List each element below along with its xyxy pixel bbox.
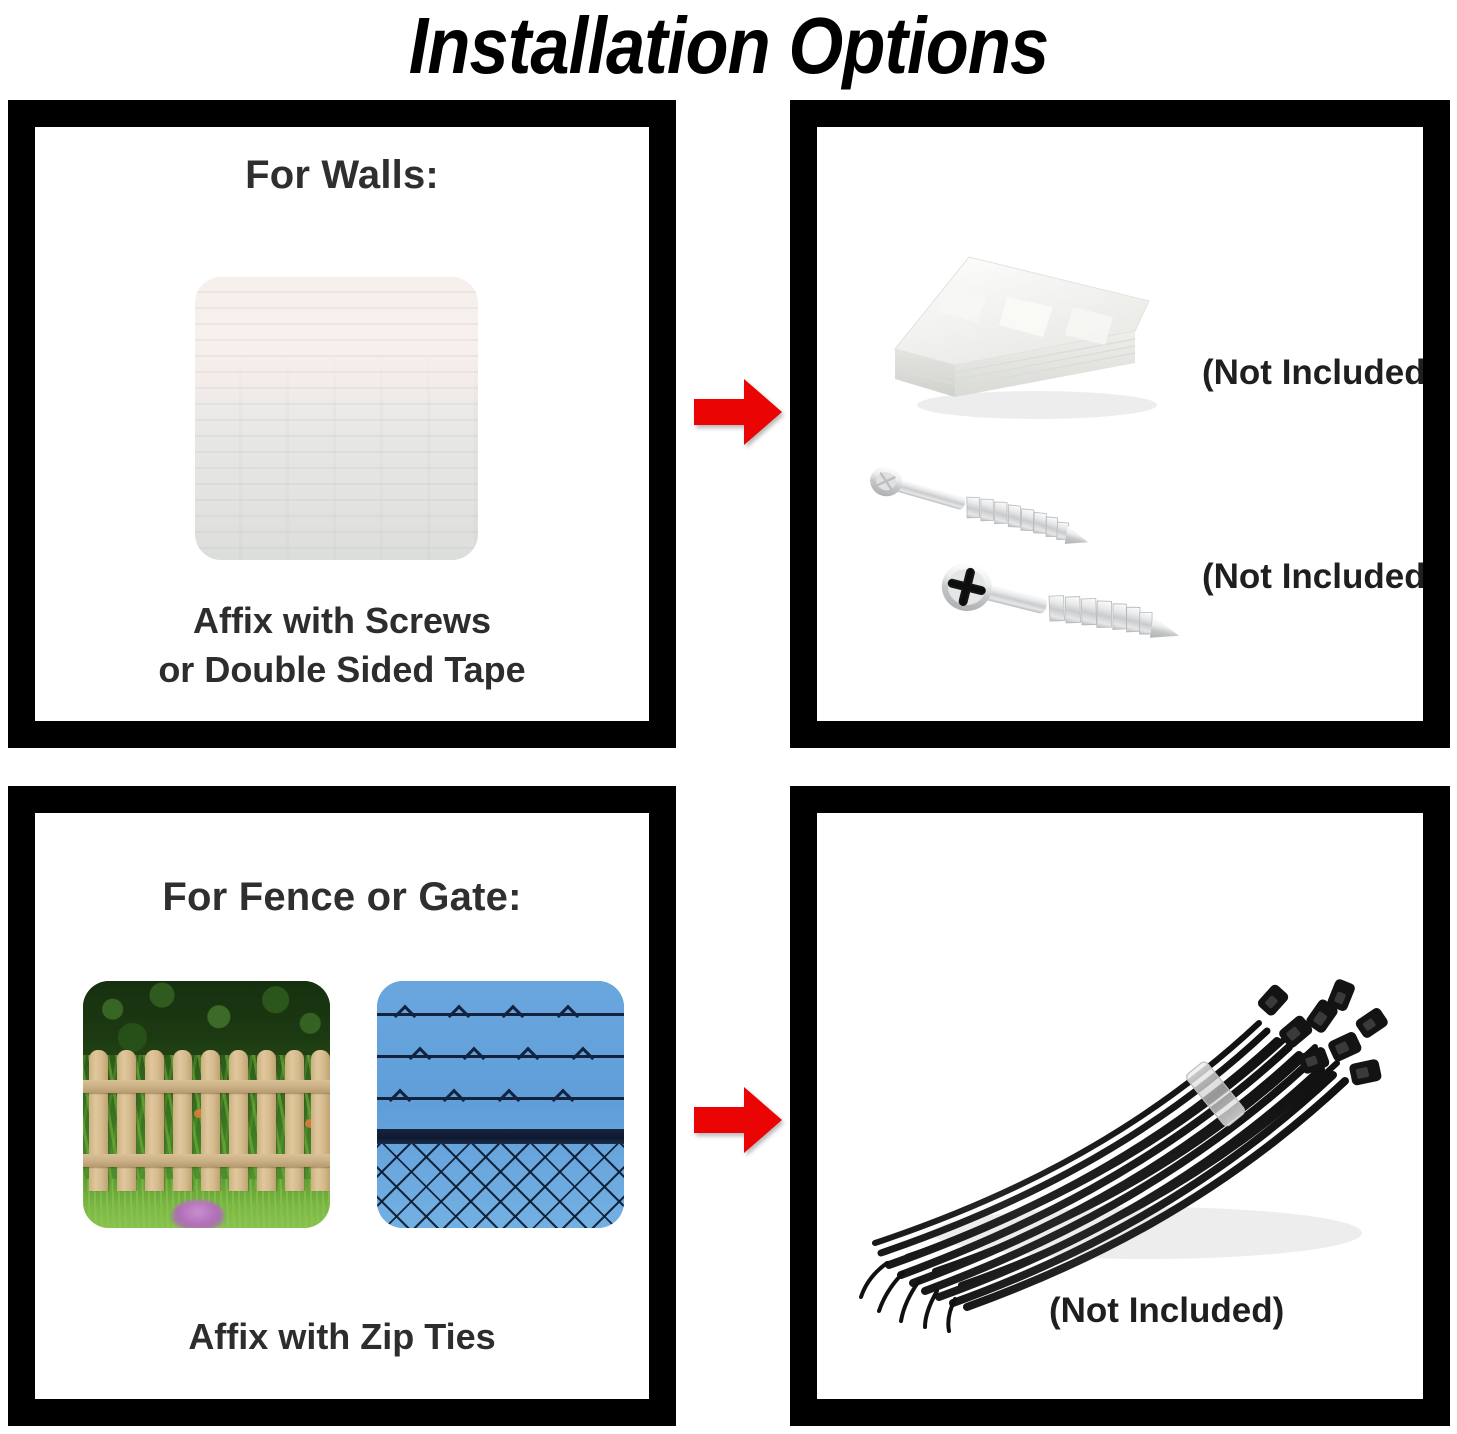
panel-for-fence-content: For Fence or Gate: [35, 813, 649, 1399]
ziptie-not-included-label: (Not Included) [1049, 1291, 1284, 1331]
fence-picket [257, 1050, 276, 1191]
fence-picket [89, 1050, 108, 1191]
fence-picket [145, 1050, 164, 1191]
zip-tie-bundle-image [847, 913, 1423, 1333]
fence-picket [173, 1050, 192, 1191]
panel-wall-hardware: (Not Included) [790, 100, 1450, 748]
fence-picket [117, 1050, 136, 1191]
chain-link-fence-photo [377, 981, 624, 1228]
arrow-right-icon-bottom [692, 1085, 784, 1155]
walls-caption-line1: Affix with Screws [35, 597, 649, 646]
arrow-right-icon-top [692, 377, 784, 447]
for-walls-heading: For Walls: [35, 153, 649, 198]
panel-for-fence-or-gate: For Fence or Gate: [8, 786, 676, 1426]
screws-not-included-label: (Not Included) [1202, 557, 1423, 597]
chain-link-mesh [377, 1144, 624, 1228]
wooden-picket-fence-photo [83, 981, 330, 1228]
tape-not-included-label: (Not Included) [1202, 353, 1423, 393]
panel-zip-ties: (Not Included) [790, 786, 1450, 1426]
wood-screws-image [839, 457, 1189, 657]
panel-zip-ties-content: (Not Included) [817, 813, 1423, 1399]
white-brick-wall-photo [195, 277, 478, 560]
panel-for-walls-content: For Walls: Affix with Screws or Double S… [35, 127, 649, 721]
walls-caption: Affix with Screws or Double Sided Tape [35, 597, 649, 694]
fence-picket [201, 1050, 220, 1191]
for-fence-heading: For Fence or Gate: [35, 875, 649, 920]
panel-wall-hardware-content: (Not Included) [817, 127, 1423, 721]
fence-top-rail [377, 1129, 624, 1144]
garden-path [172, 1200, 224, 1228]
fence-picket [229, 1050, 248, 1191]
fence-caption: Affix with Zip Ties [35, 1313, 649, 1362]
fence-picket [311, 1050, 330, 1191]
fence-rail-upper [83, 1080, 330, 1093]
walls-caption-line2: or Double Sided Tape [35, 646, 649, 695]
page-title: Installation Options [87, 0, 1369, 92]
double-sided-tape-stack-image [877, 245, 1177, 430]
panel-for-walls: For Walls: Affix with Screws or Double S… [8, 100, 676, 748]
fence-picket [285, 1050, 304, 1191]
fence-rail-lower [83, 1154, 330, 1167]
